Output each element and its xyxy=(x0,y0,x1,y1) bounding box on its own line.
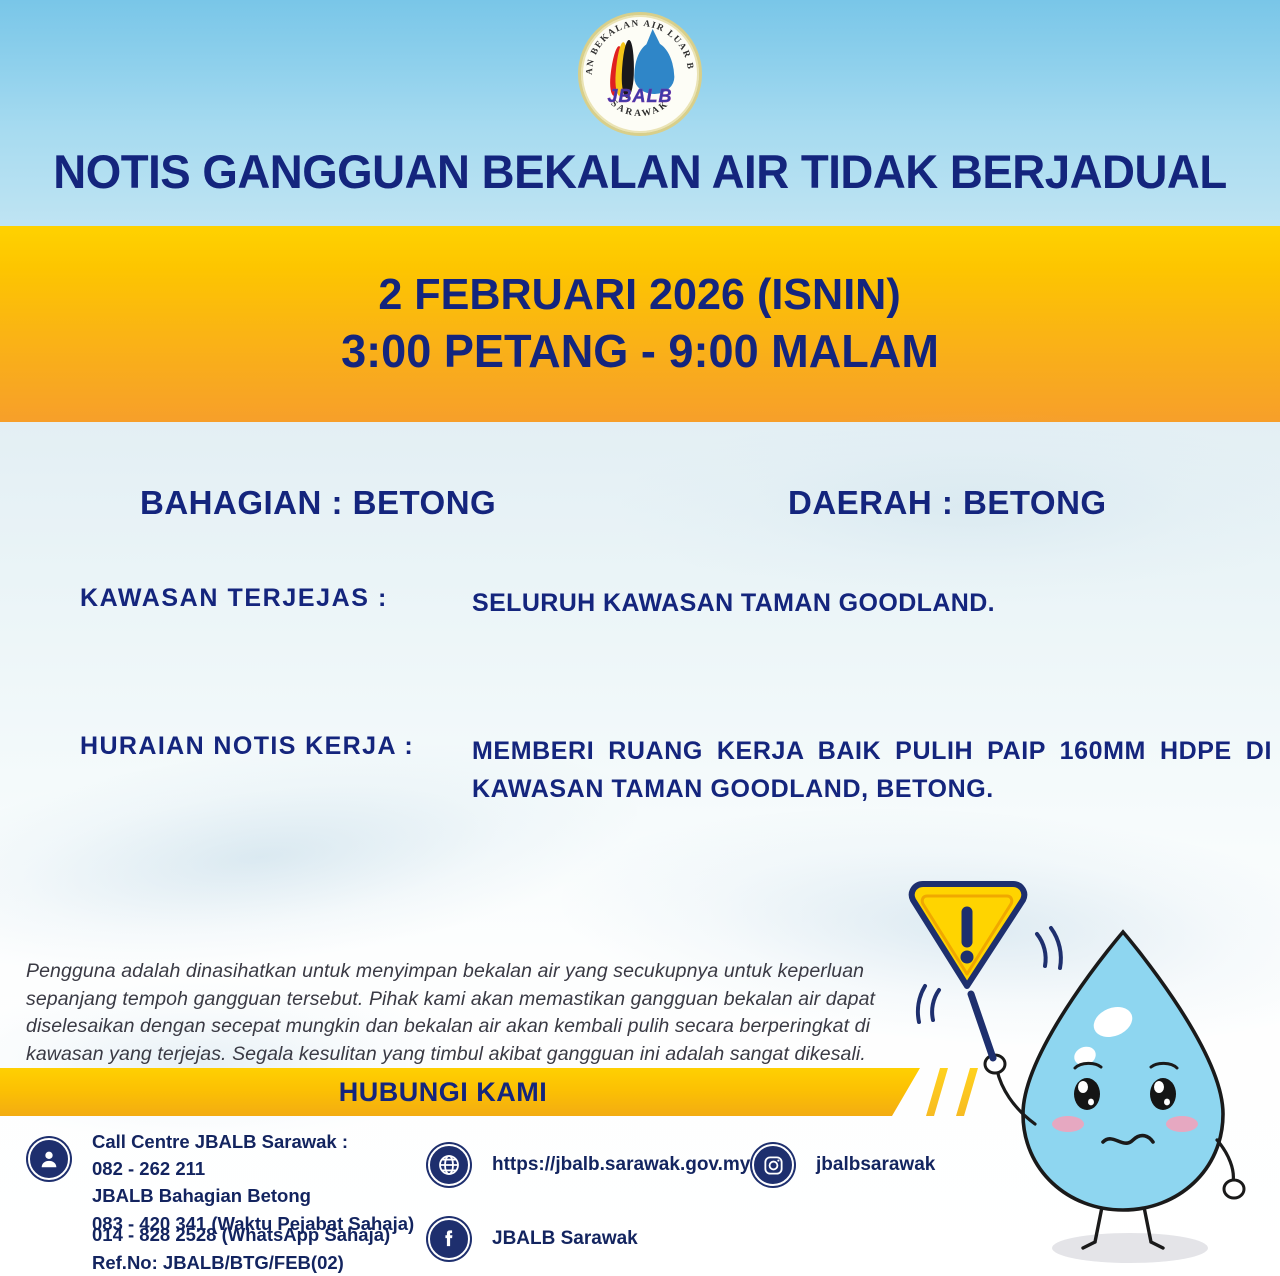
work-description-label: HURAIAN NOTIS KERJA : xyxy=(80,732,414,761)
district-label: DAERAH : BETONG xyxy=(788,484,1107,522)
affected-area-label: KAWASAN TERJEJAS xyxy=(80,584,370,613)
notice-time: 3:00 PETANG - 9:00 MALAM xyxy=(341,324,939,378)
whatsapp-ref-text: 014 - 828 2528 (WhatsApp Sahaja) Ref.No:… xyxy=(92,1221,390,1276)
instagram-icon[interactable] xyxy=(752,1144,794,1186)
advisory-paragraph: Pengguna adalah dinasihatkan untuk menyi… xyxy=(26,958,906,1069)
affected-area-colon: : xyxy=(378,584,386,613)
facebook-icon[interactable] xyxy=(428,1218,470,1260)
contact-banner: HUBUNGI KAMI xyxy=(0,1068,1010,1116)
contact-banner-title: HUBUNGI KAMI xyxy=(339,1077,548,1108)
website-url[interactable]: https://jbalb.sarawak.gov.my/ xyxy=(492,1154,756,1176)
affected-area-value: SELURUH KAWASAN TAMAN GOODLAND. xyxy=(472,584,1272,622)
poster-root: JABATAN BEKALAN AIR LUAR BANDAR SARAWAK … xyxy=(0,0,1280,1276)
water-droplet-mascot xyxy=(905,862,1280,1276)
jbalb-logo: JABATAN BEKALAN AIR LUAR BANDAR SARAWAK … xyxy=(578,12,702,136)
logo-wordmark: JBALB xyxy=(578,86,702,107)
contact-banner-bar: HUBUNGI KAMI xyxy=(0,1068,920,1116)
notice-date: 2 FEBRUARI 2026 (ISNIN) xyxy=(379,270,901,320)
page-title: NOTIS GANGGUAN BEKALAN AIR TIDAK BERJADU… xyxy=(19,144,1261,199)
work-description-value: MEMBERI RUANG KERJA BAIK PULIH PAIP 160M… xyxy=(472,732,1272,808)
person-icon xyxy=(28,1138,70,1180)
division-label: BAHAGIAN : BETONG xyxy=(140,484,496,522)
date-time-banner: 2 FEBRUARI 2026 (ISNIN) 3:00 PETANG - 9:… xyxy=(0,226,1280,422)
globe-icon[interactable] xyxy=(428,1144,470,1186)
facebook-handle[interactable]: JBALB Sarawak xyxy=(492,1228,638,1250)
